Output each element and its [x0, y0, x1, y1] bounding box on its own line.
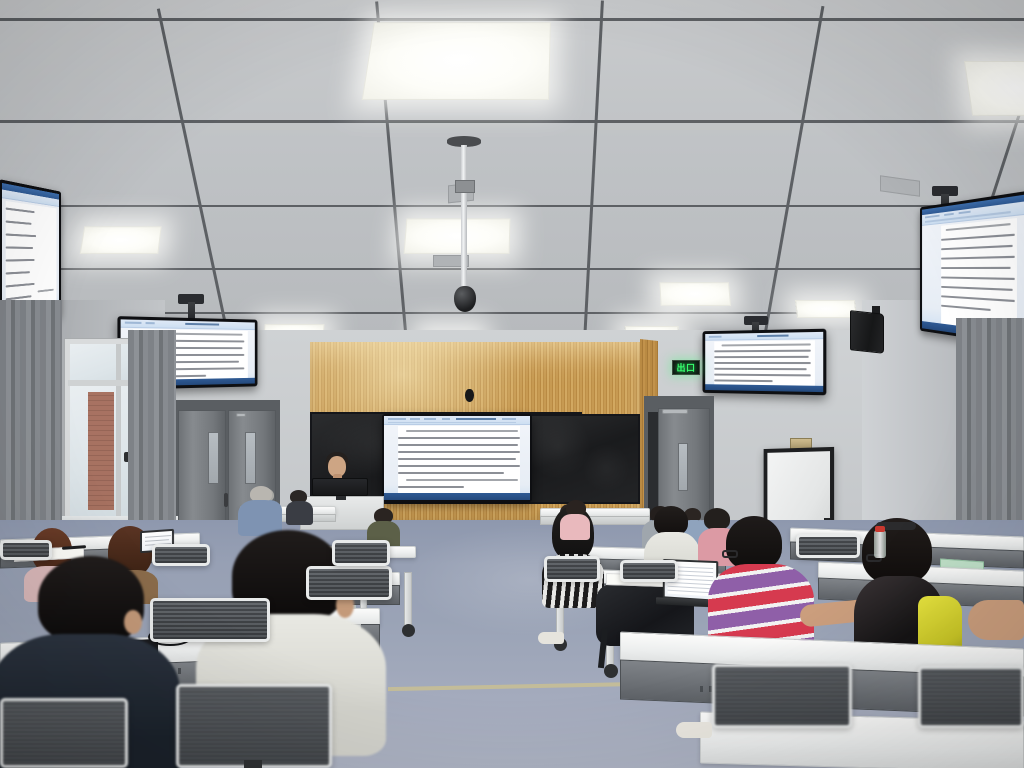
wall-camera-dome-icon	[465, 389, 474, 402]
chair-post	[244, 760, 262, 768]
door-vision-panel	[208, 432, 219, 484]
chalkboard-right	[522, 414, 640, 504]
ceiling-vent	[880, 175, 920, 197]
door-closer	[662, 409, 688, 414]
classroom-photo: 出口	[0, 0, 1024, 768]
desk-caster	[604, 664, 618, 678]
ceiling-light-panel	[362, 22, 551, 100]
podium-monitor[interactable]	[312, 478, 368, 496]
torso	[286, 501, 313, 525]
eyeglasses-icon	[722, 550, 738, 558]
shoe	[538, 632, 564, 644]
ceiling-light-panel	[404, 218, 511, 253]
ceiling-light-panel	[659, 282, 731, 306]
projection-screen-frame[interactable]	[382, 414, 532, 502]
exterior-brick-building	[88, 392, 114, 510]
door-handle[interactable]	[224, 493, 228, 507]
torso	[560, 514, 590, 540]
ceiling-light-panel	[795, 300, 857, 318]
wall-speaker	[850, 310, 884, 354]
desk-leg	[404, 572, 412, 628]
ceiling-light-panel	[964, 61, 1024, 116]
chair-row2-mid[interactable]	[332, 540, 390, 566]
chair-foreground-center[interactable]	[176, 684, 332, 768]
wall-monitor-right[interactable]	[703, 329, 827, 396]
water-bottle-right	[874, 530, 886, 558]
chair-row3-left[interactable]	[306, 566, 392, 600]
exit-sign-label: 出口	[676, 361, 695, 374]
chair-left-far[interactable]	[152, 544, 210, 566]
chair-right-of-polo[interactable]	[712, 664, 852, 728]
chair-right-far[interactable]	[796, 534, 860, 558]
ceiling-light-panel	[80, 226, 162, 254]
ceiling-camera-dome	[454, 286, 476, 312]
bottle-cap	[875, 526, 885, 532]
exit-sign: 出口	[672, 360, 700, 375]
camera-drop-pole	[461, 145, 467, 292]
chair-left-far-2[interactable]	[0, 540, 52, 560]
chair-foreground-left[interactable]	[0, 698, 128, 768]
chair-row3-center[interactable]	[150, 598, 270, 642]
door-vision-panel	[245, 432, 256, 484]
hair	[726, 516, 782, 570]
door-closer	[236, 413, 246, 417]
ceiling-projector-mount	[455, 180, 475, 193]
arm-far-right	[968, 600, 1024, 640]
chair-far-right[interactable]	[918, 666, 1024, 728]
chair-right-mid[interactable]	[544, 556, 600, 582]
hair	[704, 508, 730, 530]
window-mullion	[116, 344, 121, 516]
shoe	[676, 722, 712, 738]
desk-caster	[402, 624, 415, 637]
ear	[124, 610, 142, 634]
projection-screen-document	[384, 416, 530, 500]
chair-aisle-right[interactable]	[620, 560, 678, 582]
door-vision-panel	[678, 443, 688, 491]
